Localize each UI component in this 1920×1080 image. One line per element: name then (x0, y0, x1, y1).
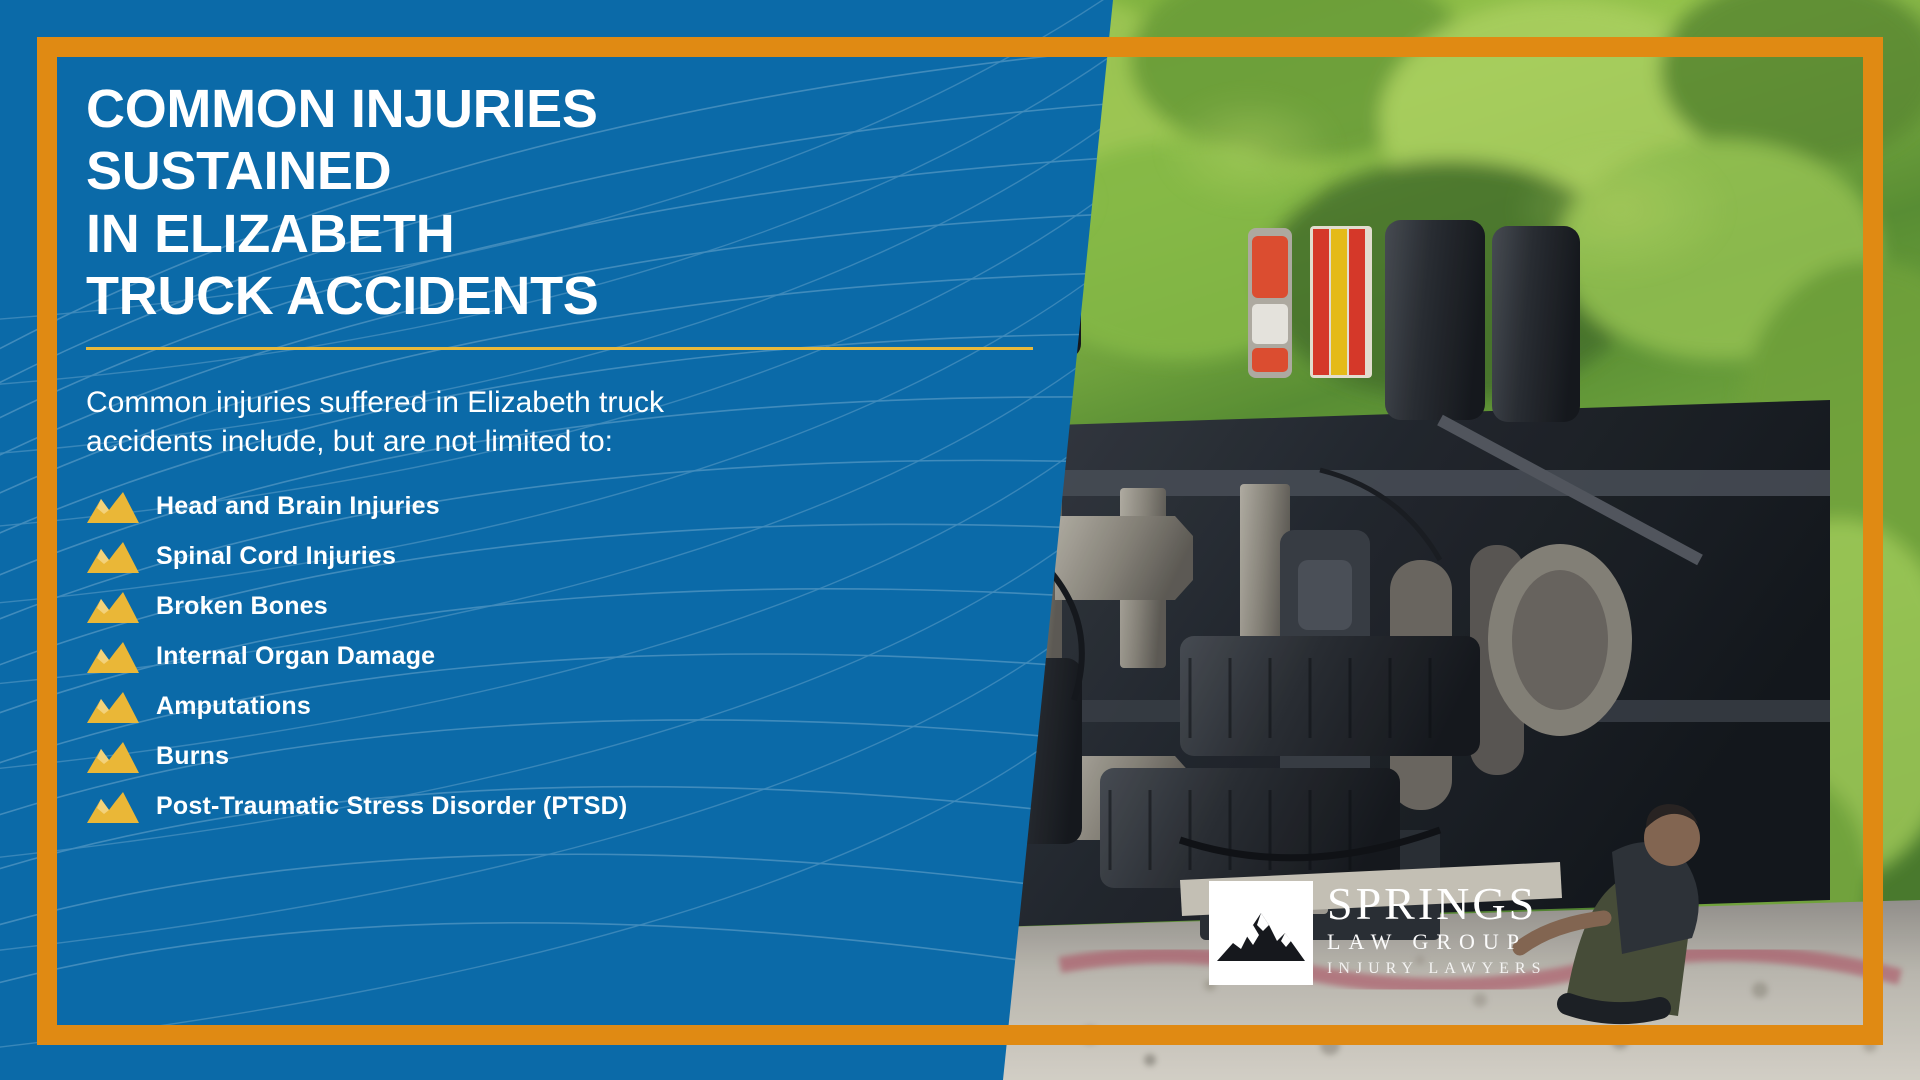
mountain-icon (86, 640, 140, 674)
list-item-label: Post-Traumatic Stress Disorder (PTSD) (156, 792, 627, 821)
list-item-label: Burns (156, 742, 229, 771)
list-item: Amputations (86, 682, 986, 732)
headline-line-3: IN ELIZABETH (86, 203, 986, 265)
mountain-logo-icon (1215, 899, 1307, 967)
list-item: Broken Bones (86, 582, 986, 632)
intro-line-2: accidents include, but are not limited t… (86, 423, 786, 462)
list-item: Burns (86, 732, 986, 782)
logo-tagline: INJURY LAWYERS (1327, 957, 1546, 981)
logo-wordmark: SPRINGS LAW GROUP INJURY LAWYERS (1327, 881, 1546, 985)
list-item: Head and Brain Injuries (86, 482, 986, 532)
intro-line-1: Common injuries suffered in Elizabeth tr… (86, 384, 786, 423)
logo-mark-box (1209, 881, 1313, 985)
list-item: Spinal Cord Injuries (86, 532, 986, 582)
mountain-icon (86, 590, 140, 624)
text-content: COMMON INJURIES SUSTAINED IN ELIZABETH T… (86, 78, 986, 832)
mountain-icon (86, 490, 140, 524)
headline-line-4: TRUCK ACCIDENTS (86, 265, 986, 327)
intro-paragraph: Common injuries suffered in Elizabeth tr… (86, 384, 786, 461)
list-item: Post-Traumatic Stress Disorder (PTSD) (86, 782, 986, 832)
list-item-label: Broken Bones (156, 592, 328, 621)
headline-line-2: SUSTAINED (86, 140, 986, 202)
injury-list: Head and Brain Injuries Spinal Cord Inju… (86, 482, 986, 832)
logo-name: SPRINGS (1327, 881, 1546, 927)
mountain-icon (86, 540, 140, 574)
list-item-label: Spinal Cord Injuries (156, 542, 396, 571)
logo-subtitle: LAW GROUP (1327, 927, 1546, 957)
mountain-icon (86, 740, 140, 774)
mountain-icon (86, 690, 140, 724)
brand-logo: SPRINGS LAW GROUP INJURY LAWYERS (1209, 881, 1546, 985)
list-item-label: Amputations (156, 692, 311, 721)
gold-divider (86, 347, 1033, 350)
list-item-label: Head and Brain Injuries (156, 492, 440, 521)
infographic-canvas: COMMON INJURIES SUSTAINED IN ELIZABETH T… (0, 0, 1920, 1080)
headline-line-1: COMMON INJURIES (86, 78, 986, 140)
list-item: Internal Organ Damage (86, 632, 986, 682)
list-item-label: Internal Organ Damage (156, 642, 435, 671)
page-title: COMMON INJURIES SUSTAINED IN ELIZABETH T… (86, 78, 986, 327)
mountain-icon (86, 790, 140, 824)
